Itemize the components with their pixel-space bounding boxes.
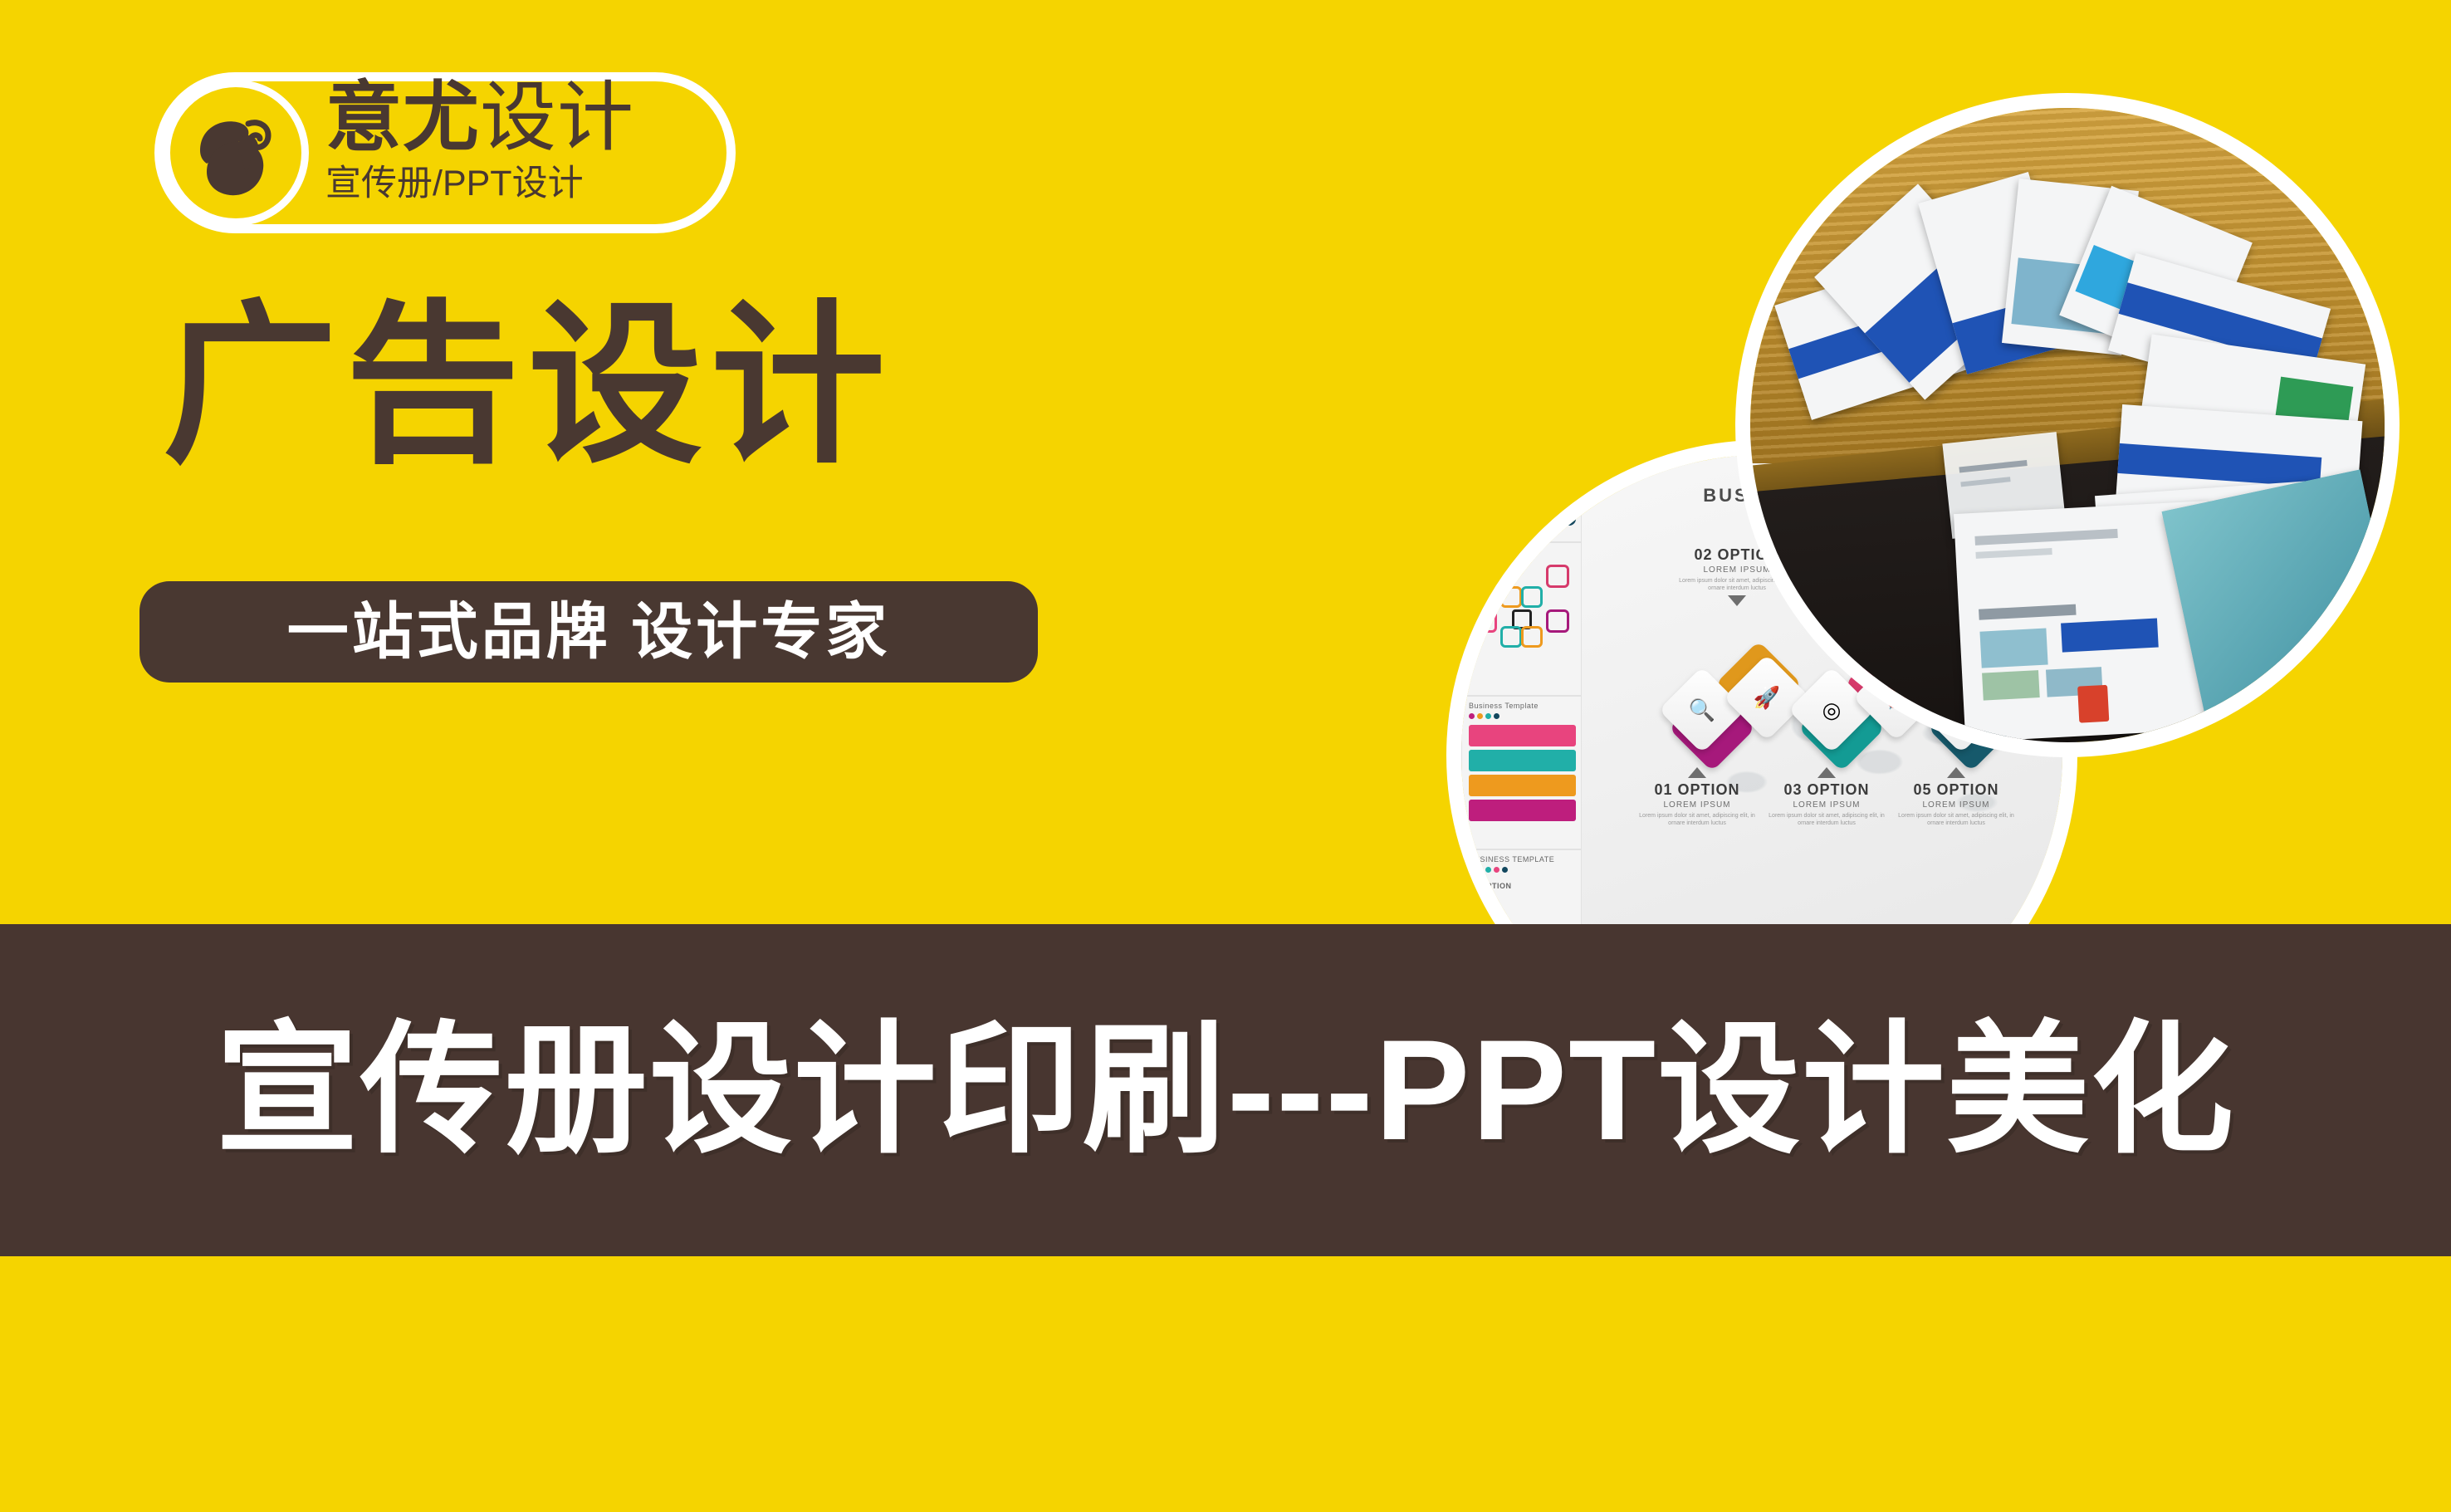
option-block: 01 OPTION LOREM IPSUM Lorem ipsum dolor … — [1635, 764, 1759, 827]
main-banner: 宣传册设计印刷---PPT设计美化 — [0, 924, 2451, 1256]
footer-bar — [0, 1256, 2451, 1512]
option-block: 05 OPTION LOREM IPSUM Lorem ipsum dolor … — [1894, 764, 2018, 827]
logo-wordmark: 意尤设计 宣传册/PPT设计 — [325, 80, 716, 229]
tagline-badge-label: 一站式品牌 设计专家 — [287, 601, 891, 663]
triangle-up-icon — [1947, 767, 1965, 778]
thumb-title: Business Template — [1469, 702, 1539, 710]
option-block: 03 OPTION LOREM IPSUM Lorem ipsum dolor … — [1764, 764, 1889, 827]
leaf-bird-logo-icon — [163, 80, 309, 226]
thumb-title: BUSINESS TEMPLATE — [1469, 855, 1554, 864]
brochure-photo-content — [1750, 108, 2385, 742]
list-item — [1461, 542, 1582, 696]
tagline-badge: 一站式品牌 设计专家 — [139, 581, 1038, 683]
triangle-up-icon — [1688, 767, 1706, 778]
list-item: ⌂ ◎ — [1461, 455, 1582, 542]
triangle-down-icon — [1728, 595, 1746, 606]
main-banner-text: 宣传册设计印刷---PPT设计美化 — [216, 1019, 2235, 1162]
printed-brochures-photo — [1735, 93, 2400, 757]
triangle-up-icon — [1817, 767, 1836, 778]
logo-tagline: 宣传册/PPT设计 — [325, 164, 716, 203]
thumb-subtitle: 04 OPTION — [1469, 882, 1512, 890]
red-seal-icon — [2077, 685, 2110, 723]
page-title: 广告设计 — [163, 299, 893, 473]
poster-canvas: 意尤设计 宣传册/PPT设计 广告设计 一站式品牌 设计专家 ⌂ ◎ — [0, 0, 2451, 1512]
magnifier-icon: 🔍 — [1671, 679, 1733, 741]
brand-name: 意尤设计 — [325, 80, 716, 156]
list-item: Business Template — [1461, 696, 1582, 849]
